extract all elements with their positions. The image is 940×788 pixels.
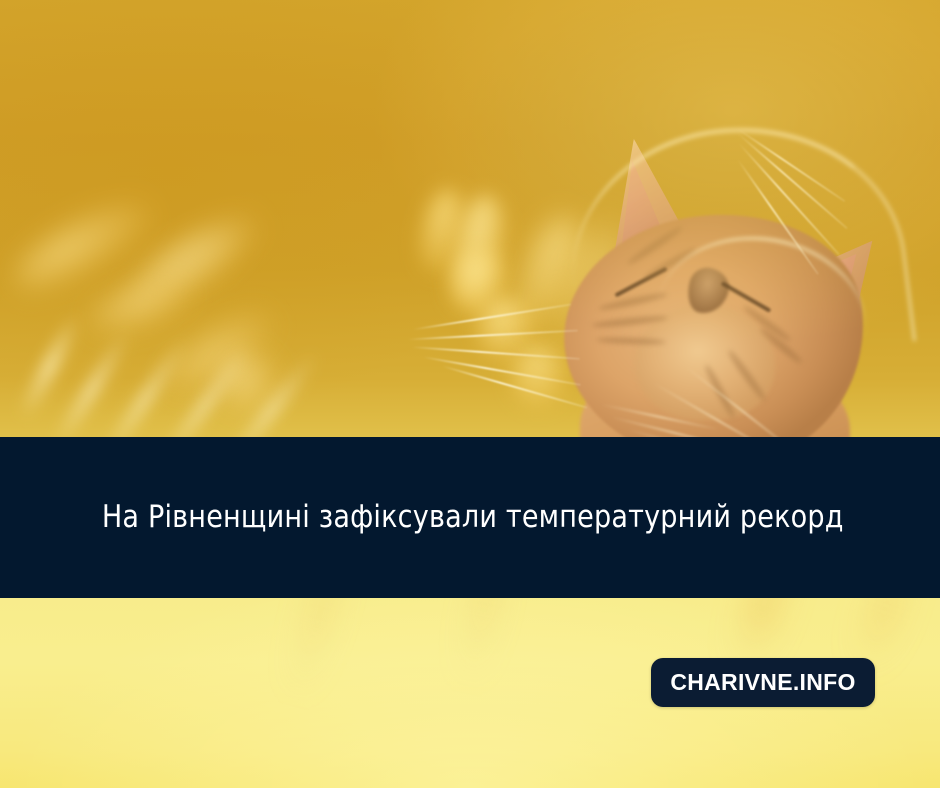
site-logo-label: CHARIVNE.INFO <box>670 669 855 696</box>
site-logo-badge[interactable]: CHARIVNE.INFO <box>651 658 875 707</box>
headline-text: На Рівненщині зафіксували температурний … <box>0 499 844 536</box>
social-media-card: На Рівненщині зафіксували температурний … <box>0 0 940 788</box>
headline-band: На Рівненщині зафіксували температурний … <box>0 437 940 598</box>
